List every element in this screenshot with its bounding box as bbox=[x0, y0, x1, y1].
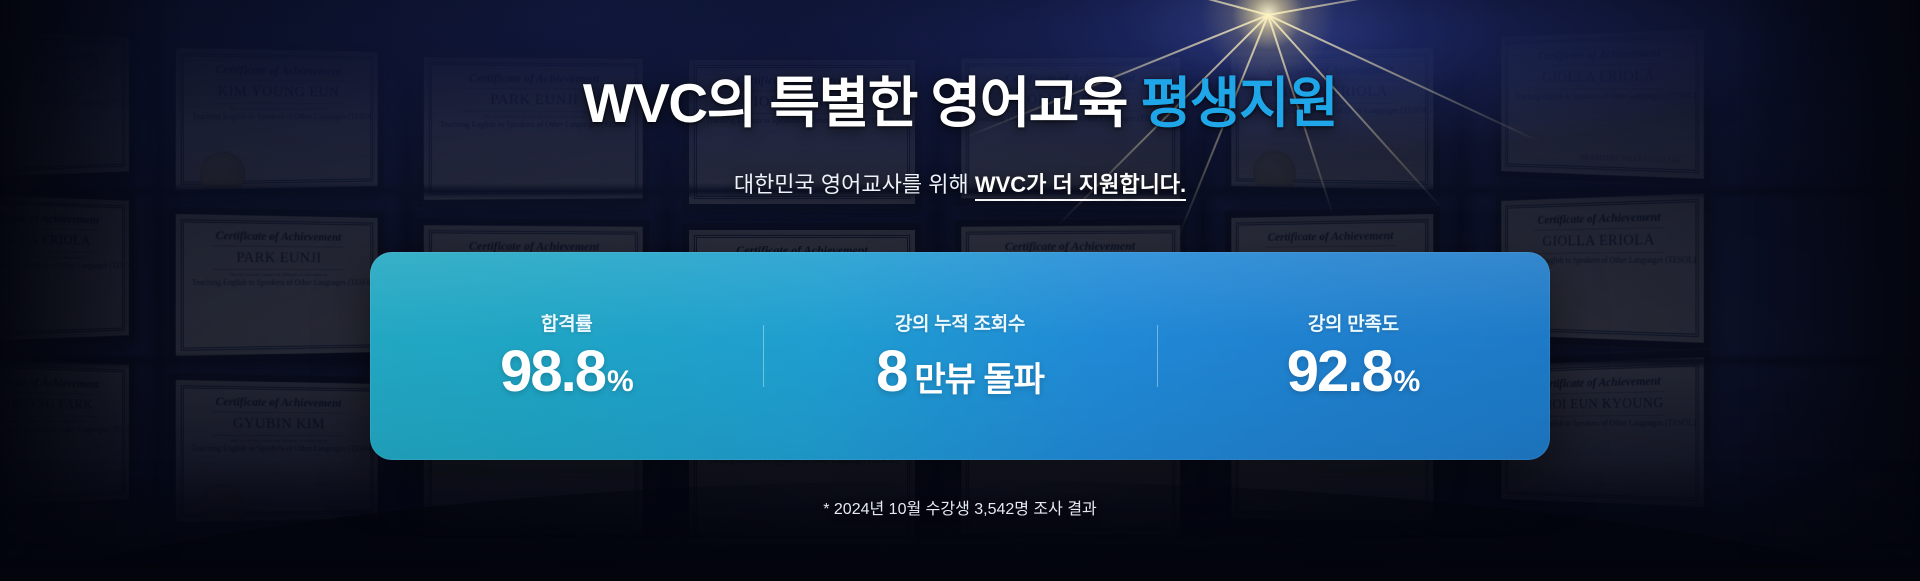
stat-value: 92.8% bbox=[1287, 342, 1420, 403]
stat-value: 8만뷰 돌파 bbox=[876, 342, 1044, 403]
headline-accent-text: 평생지원 bbox=[1141, 72, 1337, 134]
stat-item-satisfaction: 강의 만족도 92.8% bbox=[1157, 309, 1550, 403]
subtitle-emphasis-text: WVC가 더 지원합니다. bbox=[975, 172, 1186, 201]
hero-banner: Certificate of Achievement PAK OK SUN Ha… bbox=[0, 0, 1920, 581]
subtitle-prefix-text: 대한민국 영어교사를 위해 bbox=[734, 172, 975, 197]
hero-subtitle: 대한민국 영어교사를 위해 WVC가 더 지원합니다. bbox=[0, 167, 1920, 199]
stat-suffix: % bbox=[1394, 366, 1420, 398]
stat-item-total-views: 강의 누적 조회수 8만뷰 돌파 bbox=[763, 309, 1156, 403]
stat-value: 98.8% bbox=[500, 342, 633, 403]
stat-label: 합격률 bbox=[541, 309, 593, 336]
stat-label: 강의 누적 조회수 bbox=[895, 309, 1025, 336]
page-title: WVC의 특별한 영어교육 평생지원 bbox=[0, 58, 1920, 138]
stat-suffix: 만뷰 돌파 bbox=[914, 363, 1044, 399]
survey-footnote: * 2024년 10월 수강생 3,542명 조사 결과 bbox=[0, 495, 1920, 519]
stat-item-pass-rate: 합격률 98.8% bbox=[370, 309, 763, 403]
stat-number: 8 bbox=[876, 342, 906, 403]
stat-number: 92.8 bbox=[1287, 342, 1392, 403]
stat-number: 98.8 bbox=[500, 342, 605, 403]
stat-label: 강의 만족도 bbox=[1308, 309, 1399, 336]
stats-card: 합격률 98.8% 강의 누적 조회수 8만뷰 돌파 강의 만족도 92.8% bbox=[370, 252, 1550, 460]
headline-main-text: WVC의 특별한 영어교육 bbox=[583, 72, 1141, 134]
hero-content: WVC의 특별한 영어교육 평생지원 대한민국 영어교사를 위해 WVC가 더 … bbox=[0, 0, 1920, 581]
stat-suffix: % bbox=[607, 366, 633, 398]
